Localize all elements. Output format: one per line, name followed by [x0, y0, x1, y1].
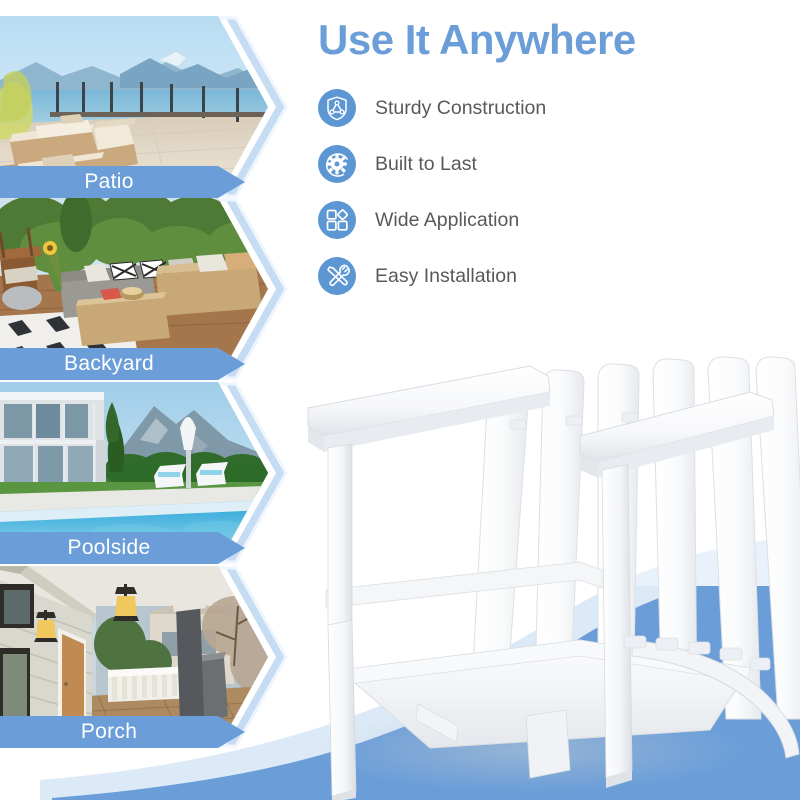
scene-caption: Poolside — [0, 532, 218, 564]
scene-caption: Porch — [0, 716, 218, 748]
feature-label: Sturdy Construction — [375, 97, 546, 120]
feature-item-built-to-last: Built to Last — [318, 136, 546, 192]
shield-triangle-icon — [318, 89, 356, 127]
scene-thumbnail-backyard[interactable]: Backyard — [0, 198, 300, 380]
scene-caption: Backyard — [0, 348, 218, 380]
feature-item-easy-installation: Easy Installation — [318, 248, 546, 304]
feature-item-wide-application: Wide Application — [318, 192, 546, 248]
scene-caption: Patio — [0, 166, 218, 198]
shapes-grid-icon — [318, 201, 356, 239]
scene-thumbnail-list: Patio — [0, 0, 300, 800]
feature-list: Sturdy Construction — [318, 80, 546, 304]
feature-item-sturdy-construction: Sturdy Construction — [318, 80, 546, 136]
product-feature-banner: Use It Anywhere Sturdy Construction — [0, 0, 800, 800]
wrench-screwdriver-icon — [318, 257, 356, 295]
page-title: Use It Anywhere — [318, 16, 718, 64]
feature-label: Easy Installation — [375, 265, 517, 288]
feature-label: Wide Application — [375, 209, 519, 232]
scene-thumbnail-poolside[interactable]: Poolside — [0, 382, 300, 564]
scene-thumbnail-patio[interactable]: Patio — [0, 16, 300, 198]
feature-label: Built to Last — [375, 153, 477, 176]
gear-icon — [318, 145, 356, 183]
scene-thumbnail-porch[interactable]: Porch — [0, 566, 300, 748]
